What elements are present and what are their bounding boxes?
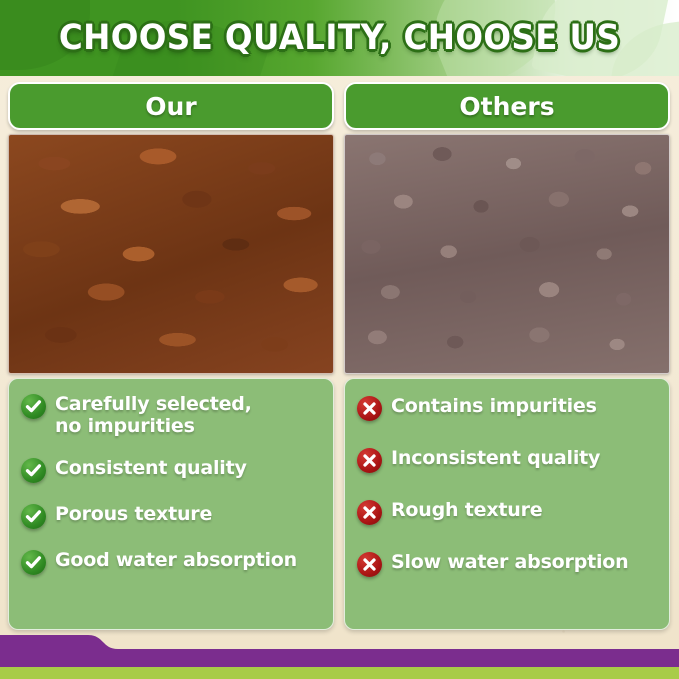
cross-circle-icon (357, 552, 382, 577)
list-item: Slow water absorption (357, 551, 659, 577)
list-item: Contains impurities (357, 395, 659, 421)
footer-decoration (0, 635, 679, 679)
lime-bar (0, 667, 679, 679)
cross-circle-icon (357, 500, 382, 525)
feature-list-our: Carefully selected, no impurities Consis… (8, 378, 334, 630)
product-photo-our (8, 134, 334, 374)
check-circle-icon (21, 394, 46, 419)
list-item: Rough texture (357, 499, 659, 525)
list-item: Inconsistent quality (357, 447, 659, 473)
column-heading-our: Our (8, 82, 334, 130)
comparison-columns: Our Carefully selected, no impurities Co… (8, 82, 671, 630)
page-title: CHOOSE QUALITY, CHOOSE US (24, 0, 655, 76)
list-item: Porous texture (21, 503, 323, 529)
list-item: Carefully selected, no impurities (21, 393, 323, 437)
feature-label: Porous texture (55, 503, 212, 525)
feature-list-others: Contains impurities Inconsistent quality… (344, 378, 670, 630)
check-circle-icon (21, 504, 46, 529)
check-circle-icon (21, 458, 46, 483)
feature-label: Carefully selected, no impurities (55, 393, 252, 437)
feature-label: Contains impurities (391, 395, 597, 417)
cross-circle-icon (357, 396, 382, 421)
list-item: Good water absorption (21, 549, 323, 575)
feature-label: Slow water absorption (391, 551, 628, 573)
comparison-infographic: CHOOSE QUALITY, CHOOSE US Our Carefully … (0, 0, 679, 679)
column-our: Our Carefully selected, no impurities Co… (8, 82, 334, 630)
feature-label: Rough texture (391, 499, 542, 521)
purple-bar (0, 649, 679, 667)
column-heading-others: Others (344, 82, 670, 130)
cross-circle-icon (357, 448, 382, 473)
feature-label: Good water absorption (55, 549, 297, 571)
column-others: Others Contains impurities Inconsistent … (344, 82, 670, 630)
feature-label: Inconsistent quality (391, 447, 600, 469)
purple-wave-step (0, 635, 679, 649)
check-circle-icon (21, 550, 46, 575)
feature-label: Consistent quality (55, 457, 247, 479)
list-item: Consistent quality (21, 457, 323, 483)
product-photo-others (344, 134, 670, 374)
header-banner: CHOOSE QUALITY, CHOOSE US (0, 0, 679, 76)
